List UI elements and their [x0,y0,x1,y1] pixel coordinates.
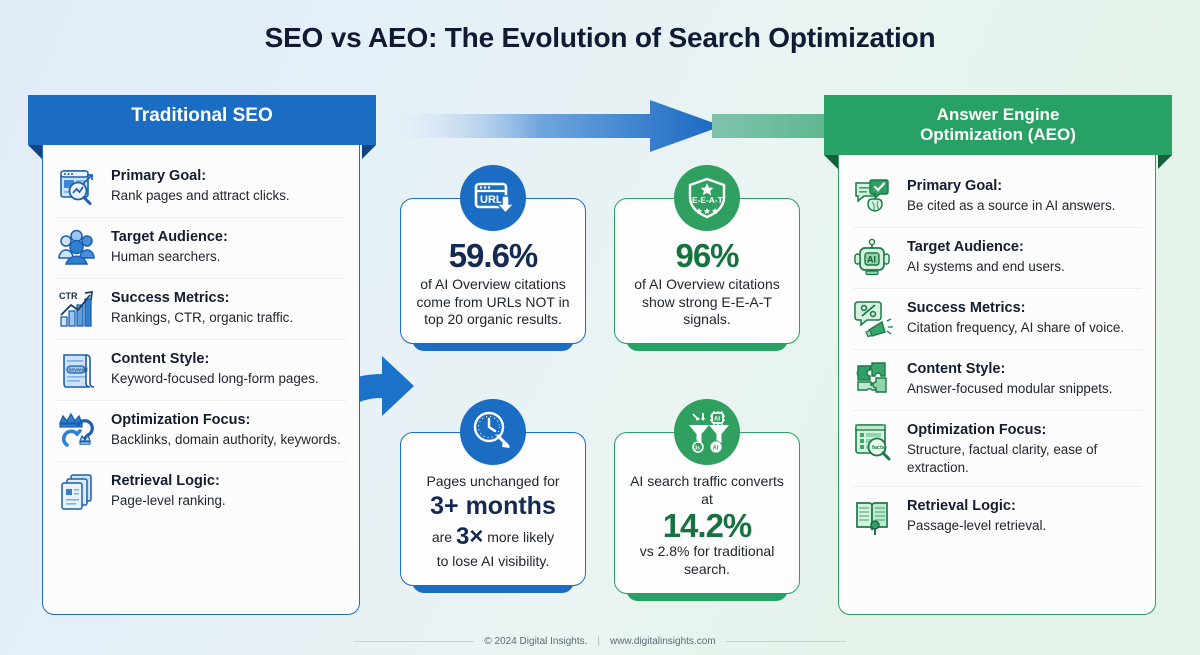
stat-description: to lose AI visibility. [413,553,573,571]
stacked-pages-icon [58,472,100,512]
item-value: Rank pages and attract clicks. [111,187,346,204]
stat-lead-text: AI search traffic converts at [627,473,787,509]
ribbon-fold-left [824,155,838,169]
footer-website[interactable]: www.digitalinsights.com [610,636,716,647]
list-item: keyword Content Style: Keyword-focused l… [56,339,346,400]
svg-text:keyword: keyword [69,367,88,373]
item-label: Optimization Focus: [111,412,346,429]
item-value: Citation frequency, AI share of voice. [907,319,1142,336]
page-title: SEO vs AEO: The Evolution of Search Opti… [0,22,1200,54]
item-value: Structure, factual clarity, ease of extr… [907,441,1142,475]
item-label: Target Audience: [111,229,346,246]
stat-description: of AI Overview citations show strong E-E… [627,276,787,330]
item-value: Answer-focused modular snippets. [907,380,1142,397]
keyword-document-icon: keyword [58,350,100,390]
item-value: Page-level ranking. [111,492,346,509]
ctr-bar-chart-icon: CTR [58,289,100,329]
clock-decline-icon [460,399,526,465]
ribbon-fold-right [362,145,376,159]
list-item: facts Optimization Focus: Structure, fac… [852,410,1142,486]
puzzle-pieces-icon [854,360,896,400]
item-value: Human searchers. [111,248,346,265]
open-book-icon [854,497,896,537]
stat-value: 96% [627,239,787,273]
item-label: Primary Goal: [907,178,1142,195]
people-group-icon [58,228,100,268]
aeo-heading-line-1: Answer Engine [832,105,1164,125]
eeat-shield-icon: E-E-A-T [674,165,740,231]
item-label: Success Metrics: [907,300,1142,317]
evolution-arrow-blue [392,98,722,154]
list-item: Primary Goal: Rank pages and attract cli… [56,157,346,217]
item-value: Keyword-focused long-form pages. [111,370,346,387]
list-item: AI Target Audience: AI systems and end u… [852,227,1142,288]
svg-text:E-E-A-T: E-E-A-T [692,195,724,205]
stat-description: vs 2.8% for traditional search. [627,543,787,579]
stat-multiplier-line: are 3× more likely [413,521,573,552]
structured-data-magnifier-icon: facts [854,421,896,461]
stat-value: 14.2% [627,509,787,543]
seo-panel-heading: Traditional SEO [28,95,376,145]
footer-rule-left [354,641,474,642]
mix-suffix: more likely [483,529,554,545]
ai-robot-icon: AI [854,238,896,278]
item-value: Backlinks, domain authority, keywords. [111,431,346,448]
footer-copyright: © 2024 Digital Insights. [484,636,587,647]
stat-card-stale-page-visibility-risk: Pages unchanged for 3+ months are 3× mor… [400,432,586,586]
stat-description: of AI Overview citations come from URLs … [413,276,573,330]
chat-check-brain-icon [854,177,896,217]
percent-megaphone-icon [854,299,896,339]
svg-text:AI: AI [714,417,720,423]
ribbon-fold-left [28,145,42,159]
item-label: Optimization Focus: [907,422,1142,439]
item-label: Content Style: [111,351,346,368]
backlink-chain-crown-icon [58,411,100,451]
item-label: Content Style: [907,361,1142,378]
footer-separator: | [597,636,600,647]
list-item: Target Audience: Human searchers. [56,217,346,278]
infographic-canvas: SEO vs AEO: The Evolution of Search Opti… [0,0,1200,655]
svg-text:AI: AI [713,446,719,452]
mix-multiplier: 3× [456,523,483,550]
list-item: Content Style: Answer-focused modular sn… [852,349,1142,410]
item-label: Primary Goal: [111,168,346,185]
list-item: Retrieval Logic: Passage-level retrieval… [852,486,1142,547]
seo-item-list: Primary Goal: Rank pages and attract cli… [42,157,360,522]
ribbon-fold-right [1158,155,1172,169]
aeo-panel-heading: Answer Engine Optimization (AEO) [824,95,1172,155]
item-value: Be cited as a source in AI answers. [907,197,1142,214]
stat-card-ai-traffic-conversion-rate: AI 3s AI AI search traffic converts at 1… [614,432,800,594]
svg-text:3s: 3s [695,446,701,452]
aeo-heading-line-2: Optimization (AEO) [832,125,1164,145]
url-download-icon: URL [460,165,526,231]
footer-rule-right [726,641,846,642]
footer: © 2024 Digital Insights. | www.digitalin… [0,629,1200,647]
item-value: Rankings, CTR, organic traffic. [111,309,346,326]
svg-text:AI: AI [867,255,876,265]
stat-card-ai-overview-citation-source: URL 59.6% of AI Overview citations come … [400,198,586,344]
funnel-ai-icon: AI 3s AI [674,399,740,465]
list-item: Success Metrics: Citation frequency, AI … [852,288,1142,349]
svg-text:facts: facts [872,445,885,451]
stat-lead-text: Pages unchanged for [413,473,573,491]
item-value: Passage-level retrieval. [907,517,1142,534]
list-item: Optimization Focus: Backlinks, domain au… [56,400,346,461]
svg-text:CTR: CTR [59,291,78,301]
item-label: Target Audience: [907,239,1142,256]
item-label: Success Metrics: [111,290,346,307]
list-item: CTR Success Metrics: Rankings, CTR, orga… [56,278,346,339]
item-label: Retrieval Logic: [111,473,346,490]
aeo-item-list: Primary Goal: Be cited as a source in AI… [838,167,1156,547]
list-item: Primary Goal: Be cited as a source in AI… [852,167,1142,227]
stat-value: 3+ months [413,493,573,521]
list-item: Retrieval Logic: Page-level ranking. [56,461,346,522]
search-page-icon [58,167,100,207]
stat-value: 59.6% [413,239,573,273]
stat-card-eeat-signal-share: E-E-A-T 96% of AI Overview citations sho… [614,198,800,344]
mix-prefix: are [432,529,456,545]
item-label: Retrieval Logic: [907,498,1142,515]
item-value: AI systems and end users. [907,258,1142,275]
